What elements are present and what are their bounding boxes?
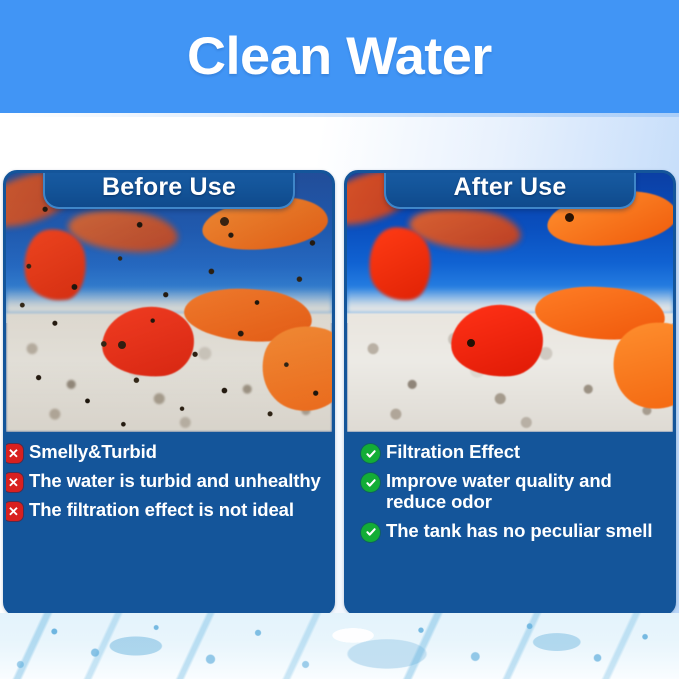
list-item-label: Filtration Effect [386,441,520,462]
fish-eye-icon [565,213,574,222]
list-item-label: Smelly&Turbid [29,441,157,462]
after-use-bullet-list: Filtration Effect Improve water quality … [347,432,673,600]
x-icon: ✕ [4,444,23,463]
list-item-label: The tank has no peculiar smell [386,520,652,541]
after-use-card: After Use Filtration Effect Improve wate… [344,170,676,616]
before-use-bullet-list: ✕ Smelly&Turbid ✕ The water is turbid an… [6,432,332,600]
after-use-photo: After Use [347,173,673,432]
fish-eye-icon [220,217,229,226]
before-use-photo: Before Use [6,173,332,432]
header-banner: Clean Water [0,0,679,113]
list-item-label: The filtration effect is not ideal [29,499,294,520]
check-icon [361,473,380,492]
list-item-label: The water is turbid and unhealthy [29,470,321,491]
comparison-section: Before Use ✕ Smelly&Turbid ✕ The water i… [3,170,676,616]
list-item-label: Improve water quality and reduce odor [386,470,667,513]
water-splash-footer [0,613,679,679]
list-item: The tank has no peculiar smell [361,520,667,542]
fish-eye-icon [118,341,126,349]
list-item: Filtration Effect [361,441,667,463]
water-streaks [0,613,679,679]
list-item: ✕ Smelly&Turbid [4,441,322,463]
before-use-label: Before Use [43,173,295,209]
after-use-label: After Use [384,173,636,209]
list-item: Improve water quality and reduce odor [361,470,667,513]
product-infographic: Clean Water [0,0,679,679]
after-use-label-text: After Use [412,175,608,200]
x-icon: ✕ [4,473,23,492]
check-icon [361,444,380,463]
x-icon: ✕ [4,502,23,521]
check-icon [361,523,380,542]
list-item: ✕ The filtration effect is not ideal [4,499,322,521]
fish-eye-icon [467,339,475,347]
list-item: ✕ The water is turbid and unhealthy [4,470,322,492]
before-use-card: Before Use ✕ Smelly&Turbid ✕ The water i… [3,170,335,616]
before-use-label-text: Before Use [71,175,267,200]
page-title: Clean Water [187,30,492,83]
